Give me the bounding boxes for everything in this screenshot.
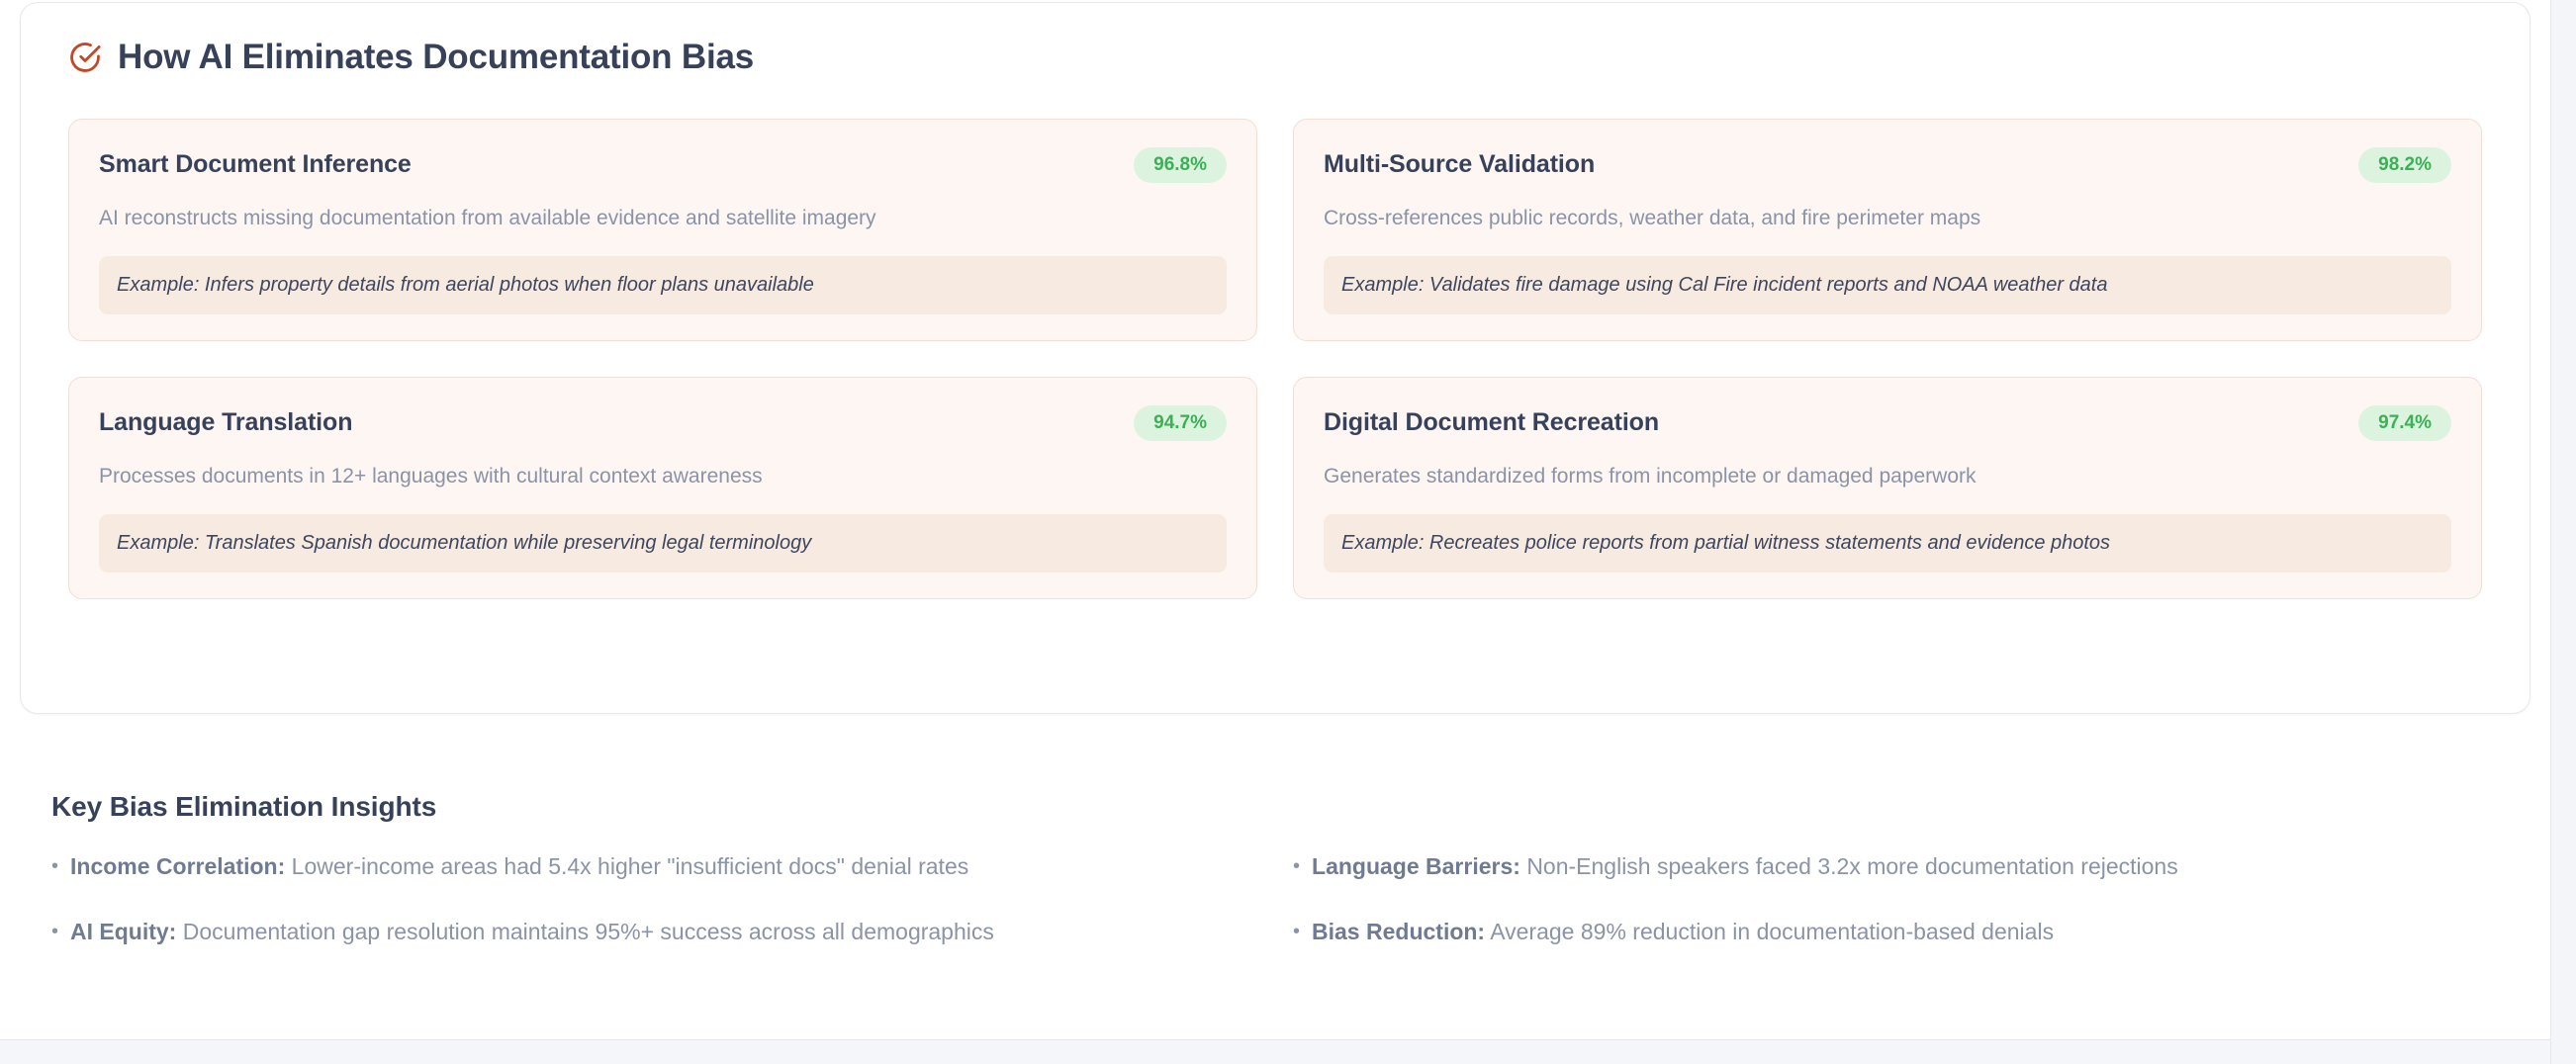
card-title: Digital Document Recreation [1324,408,1659,437]
insight-label: AI Equity: [70,919,176,944]
insight-text: Non-English speakers faced 3.2x more doc… [1526,853,2177,879]
documentation-bias-panel: How AI Eliminates Documentation Bias Sma… [20,2,2530,714]
page-root: How AI Eliminates Documentation Bias Sma… [0,0,2576,1064]
insight-body: AI Equity: Documentation gap resolution … [70,918,994,947]
page-title: How AI Eliminates Documentation Bias [118,39,754,77]
insights-title: Key Bias Elimination Insights [51,791,2499,823]
accuracy-badge: 98.2% [2358,147,2451,183]
right-page-gutter [2550,0,2576,1064]
card-title: Language Translation [99,408,352,437]
insight-item-bias-reduction: • Bias Reduction: Average 89% reduction … [1293,918,2499,947]
card-header: Multi-Source Validation 98.2% [1324,147,2451,183]
card-description: AI reconstructs missing documentation fr… [99,205,1227,232]
card-example: Example: Infers property details from ae… [99,256,1227,314]
card-example: Example: Translates Spanish documentatio… [99,514,1227,573]
insight-text: Documentation gap resolution maintains 9… [183,919,994,944]
insight-label: Bias Reduction: [1312,919,1485,944]
card-title: Smart Document Inference [99,150,412,179]
insight-item-ai-equity: • AI Equity: Documentation gap resolutio… [51,918,1257,947]
bullet-icon: • [51,922,58,941]
accuracy-badge: 97.4% [2358,405,2451,441]
card-header: Digital Document Recreation 97.4% [1324,405,2451,441]
card-title: Multi-Source Validation [1324,150,1595,179]
capability-card-language-translation[interactable]: Language Translation 94.7% Processes doc… [68,377,1257,599]
card-description: Processes documents in 12+ languages wit… [99,463,1227,490]
bottom-strip [0,1040,2550,1064]
capability-card-digital-document-recreation[interactable]: Digital Document Recreation 97.4% Genera… [1293,377,2482,599]
circle-check-icon [68,41,102,74]
key-insights-section: Key Bias Elimination Insights • Income C… [0,791,2550,947]
card-example: Example: Recreates police reports from p… [1324,514,2451,573]
card-example: Example: Validates fire damage using Cal… [1324,256,2451,314]
bullet-icon: • [1293,922,1300,941]
insight-body: Income Correlation: Lower-income areas h… [70,852,968,882]
card-description: Cross-references public records, weather… [1324,205,2451,232]
capability-card-multi-source-validation[interactable]: Multi-Source Validation 98.2% Cross-refe… [1293,119,2482,341]
insight-label: Income Correlation: [70,853,285,879]
insight-item-language-barriers: • Language Barriers: Non-English speaker… [1293,852,2499,882]
bullet-icon: • [1293,856,1300,876]
accuracy-badge: 96.8% [1134,147,1227,183]
insight-body: Bias Reduction: Average 89% reduction in… [1312,918,2054,947]
insight-item-income-correlation: • Income Correlation: Lower-income areas… [51,852,1257,882]
card-header: Language Translation 94.7% [99,405,1227,441]
card-description: Generates standardized forms from incomp… [1324,463,2451,490]
panel-header: How AI Eliminates Documentation Bias [21,3,2530,77]
insight-body: Language Barriers: Non-English speakers … [1312,852,2178,882]
page-content: How AI Eliminates Documentation Bias Sma… [0,0,2550,1064]
card-header: Smart Document Inference 96.8% [99,147,1227,183]
insights-grid: • Income Correlation: Lower-income areas… [51,852,2499,947]
accuracy-badge: 94.7% [1134,405,1227,441]
capability-card-grid: Smart Document Inference 96.8% AI recons… [21,77,2530,648]
bullet-icon: • [51,856,58,876]
insight-text: Average 89% reduction in documentation-b… [1490,919,2054,944]
insight-label: Language Barriers: [1312,853,1520,879]
insight-text: Lower-income areas had 5.4x higher "insu… [292,853,969,879]
capability-card-smart-document-inference[interactable]: Smart Document Inference 96.8% AI recons… [68,119,1257,341]
